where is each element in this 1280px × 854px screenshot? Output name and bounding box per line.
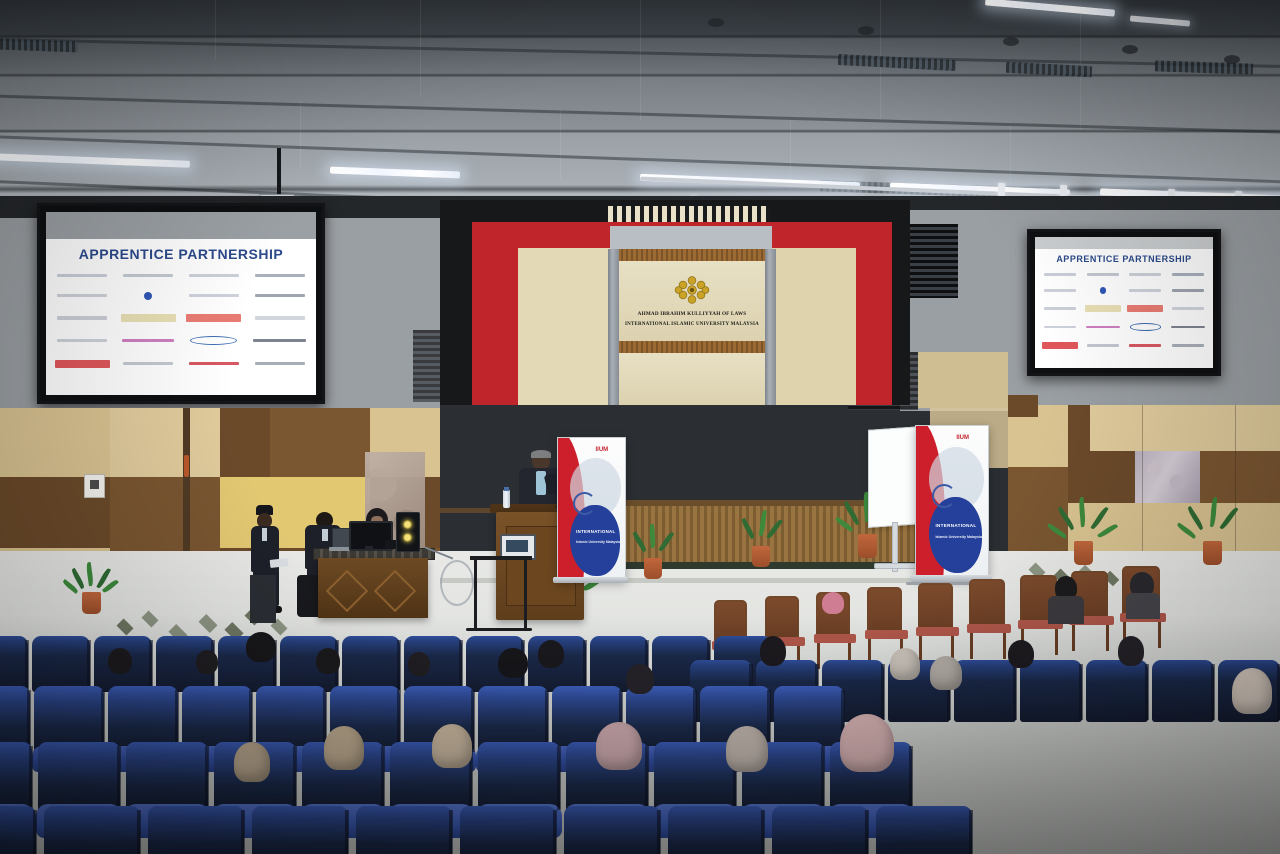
seat-back (772, 806, 868, 854)
chair-seat (865, 630, 908, 639)
seat-divider (345, 810, 349, 854)
seat-divider (241, 810, 245, 854)
chair-back (918, 583, 953, 630)
auditorium-seat[interactable] (668, 806, 764, 854)
logo-mark-box (1042, 342, 1078, 348)
ceiling-speaker (1003, 37, 1019, 46)
backdrop-column-right (765, 249, 776, 405)
slide-logo (248, 268, 311, 283)
chair-leg (970, 633, 973, 659)
logo-mark-text (255, 294, 305, 297)
logo-mark-text (1044, 326, 1076, 329)
flower-pot (1203, 541, 1222, 565)
water-bottle (503, 490, 510, 508)
seat-divider (865, 810, 869, 854)
logo-mark-text (57, 274, 107, 277)
seat-divider (761, 810, 765, 854)
slide-logo (1040, 337, 1081, 354)
monitor-stand-top (470, 556, 532, 560)
shirt-collar (322, 529, 328, 541)
banner-brand-label: IIUM (596, 447, 609, 453)
seat-divider (459, 640, 463, 690)
auditorium-seat[interactable] (44, 806, 140, 854)
logo-mark-text (123, 362, 173, 365)
ceiling-tile-line (300, 100, 301, 170)
auditorium-seat[interactable] (356, 806, 452, 854)
seat-back (44, 806, 140, 854)
seat-divider (397, 640, 401, 690)
logo-mark-oval (1130, 323, 1161, 330)
seat-back (1020, 660, 1082, 722)
banner-brand-label: IIUM (956, 435, 969, 441)
logo-mark-bar (1086, 326, 1120, 328)
seat-divider (657, 810, 661, 854)
desk-panel-detail (374, 570, 416, 612)
slide-logo (51, 330, 114, 351)
seat-back (356, 806, 452, 854)
monitor-stand (365, 546, 373, 550)
auditorium-seat[interactable] (460, 806, 556, 854)
seat-back (148, 806, 244, 854)
audience-member-head (1118, 636, 1144, 666)
audience-member-hijab (234, 742, 270, 782)
slide-logo (1125, 268, 1166, 281)
auditorium-seat[interactable] (0, 636, 28, 692)
slide-title: APPRENTICE PARTNERSHIP (46, 246, 316, 262)
seat-divider (205, 746, 209, 810)
seat-divider (29, 746, 33, 810)
logo-mark-text (1087, 344, 1119, 347)
audience-member-hijab (930, 656, 962, 690)
tech-desk[interactable] (318, 558, 428, 618)
banner-g-logo-icon (932, 484, 956, 508)
banner-international-label: INTERNATIONAL (576, 529, 615, 534)
ceiling-speaker (858, 26, 874, 35)
banner-sub-label: Islamic University Malaysia (935, 535, 982, 539)
backdrop-cream-panel-left (518, 248, 622, 405)
audience-member-head (246, 632, 276, 662)
audience-member-hijab (324, 726, 364, 770)
vip-chair[interactable] (916, 583, 961, 664)
slide-logo-grid (46, 268, 316, 374)
slide-logo (1083, 318, 1124, 336)
chair-leg (1158, 622, 1161, 648)
audience-member-head (626, 664, 654, 694)
banner-sub-label: Islamic University Malaysia (576, 540, 620, 544)
vip-attendee-hijab (822, 592, 844, 614)
left-projection-screen[interactable]: APPRENTICE PARTNERSHIP (37, 203, 325, 404)
logo-mark-text (1129, 289, 1161, 292)
slide-logo (51, 308, 114, 328)
chair-seat (916, 627, 959, 636)
ceiling-speaker (1122, 45, 1138, 54)
slide-logo (1040, 300, 1081, 317)
seat-divider (449, 810, 453, 854)
slide-logo (1040, 268, 1081, 281)
audience-member-hijab (840, 714, 894, 772)
logo-mark-text (57, 294, 107, 297)
logo-mark-text (189, 274, 239, 277)
slide-logo (1168, 318, 1209, 336)
slide-logo (248, 308, 311, 328)
backdrop-wood-band-bottom (618, 341, 766, 353)
seat-back (668, 806, 764, 854)
logo-mark-box (121, 314, 176, 322)
equipment-trolley (440, 560, 474, 606)
potted-plant (1192, 497, 1232, 575)
chair-seat (814, 634, 856, 643)
right-display-monitor[interactable]: APPRENTICE PARTNERSHIP (1027, 229, 1221, 376)
logo-mark-text (57, 316, 107, 319)
audience-member-hijab (596, 722, 642, 770)
flipchart-board (868, 426, 922, 528)
wall-panel (1070, 451, 1135, 503)
flower-pot (1074, 541, 1093, 565)
backdrop-column-left (608, 249, 619, 405)
seat-divider (1013, 664, 1017, 720)
audience-member-hijab (726, 726, 768, 772)
auditorium-seat[interactable] (1152, 660, 1214, 722)
flower-pot (82, 592, 101, 614)
chair-leg (1055, 629, 1058, 655)
potted-plant (636, 524, 670, 584)
backdrop-cream-panel-right (768, 248, 856, 405)
logo-mark-text (1129, 344, 1161, 347)
backdrop-lower-panel (618, 353, 766, 405)
seat-divider (909, 746, 913, 810)
auditorium-seat[interactable] (32, 636, 90, 692)
logo-mark-text (255, 316, 305, 319)
backdrop-wood-band-top (618, 249, 766, 261)
slide-logo (183, 308, 246, 328)
audience-member-head (538, 640, 564, 668)
seat-back (0, 806, 36, 854)
seat-divider (1211, 664, 1215, 720)
desk-panel-detail (326, 570, 368, 612)
wall-notice-sign (84, 474, 105, 498)
logo-mark-text (255, 362, 305, 365)
slide-logo (248, 330, 311, 351)
monitor-stand-leg (474, 560, 477, 630)
logo-mark-text (1172, 289, 1204, 292)
seat-back (478, 742, 560, 812)
slide-logo (248, 285, 311, 305)
auditorium-seat[interactable] (876, 806, 972, 854)
seat-back (32, 636, 90, 692)
ceiling-tile-line (640, 0, 641, 120)
logo-mark-text (189, 294, 239, 297)
banner-g-logo-icon (573, 492, 596, 515)
wall-panel (110, 477, 220, 555)
seat-divider (1079, 664, 1083, 720)
slide-logo (1083, 268, 1124, 281)
auditorium-seat[interactable] (954, 660, 1016, 722)
wall-panel (918, 352, 1008, 408)
ceiling-speaker (1224, 55, 1240, 64)
auditorium-seat[interactable] (1020, 660, 1082, 722)
back-wall-upper-dark-right (900, 196, 1280, 210)
easel-foot (874, 563, 920, 569)
seat-back (1086, 660, 1148, 722)
potted-plant (72, 560, 110, 618)
logo-mark-text (123, 274, 173, 277)
slide-logo (1083, 337, 1124, 354)
backdrop-venue-name: AHMAD IBRAHIM KULLIYYAH OF LAWS (618, 311, 766, 317)
wall-panel (1008, 395, 1038, 417)
slide-logo (1168, 282, 1209, 299)
auditorium-scene: APPRENTICE PARTNERSHIP APPRENTICE PARTNE… (0, 0, 1280, 854)
slide-title-right: APPRENTICE PARTNERSHIP (1035, 254, 1213, 264)
seat-back (38, 742, 120, 812)
chair-leg (919, 636, 922, 662)
slide-logo (1083, 282, 1124, 299)
monitor-stand-leg (524, 560, 527, 630)
chair-leg (1106, 625, 1109, 651)
monitor-stand-foot (466, 628, 532, 631)
audience-member-head (498, 648, 528, 678)
logo-mark-text (1172, 273, 1204, 276)
seat-back (954, 660, 1016, 722)
wall-panel (1200, 451, 1280, 503)
seat-divider (881, 664, 885, 720)
seat-back (252, 806, 348, 854)
chair-back (867, 587, 902, 633)
logo-mark-text (255, 274, 305, 277)
slide-logo (117, 268, 180, 283)
slide-logo (1125, 282, 1166, 299)
projector-mount-rod (277, 148, 281, 196)
slide-logo (1040, 318, 1081, 336)
seat-divider (583, 640, 587, 690)
slide-logo (1168, 300, 1209, 317)
wall-seam (1235, 405, 1236, 551)
seat-divider (1145, 664, 1149, 720)
slide-logo (183, 330, 246, 351)
flower-pot (644, 558, 662, 579)
pc-fan-led (403, 533, 412, 542)
auditorium-seat[interactable] (564, 806, 660, 854)
slide-logo (117, 308, 180, 328)
vip-attendee-body (1126, 593, 1160, 619)
slide-logo (1125, 337, 1166, 354)
seat-divider (821, 746, 825, 810)
slide-logo (117, 285, 180, 305)
seat-back (564, 806, 660, 854)
auditorium-seat[interactable] (1086, 660, 1148, 722)
slide-logo (183, 285, 246, 305)
seat-divider (557, 746, 561, 810)
slide-logo (1125, 300, 1166, 317)
slide-logo (183, 354, 246, 375)
logo-mark-bar (122, 339, 175, 342)
seat-divider (87, 640, 91, 690)
pc-tower[interactable] (396, 512, 420, 552)
slide-logo (117, 354, 180, 375)
chair-leg (1072, 625, 1075, 651)
seat-back (654, 742, 736, 812)
audience-member-head (316, 648, 340, 674)
pc-fan-led (403, 520, 412, 529)
wall-panel (1090, 405, 1280, 451)
seat-divider (149, 640, 153, 690)
logo-mark-text (1044, 307, 1076, 310)
auditorium-seat[interactable] (148, 806, 244, 854)
rollup-banner-right: INTERNATIONAL Islamic University Malaysi… (915, 425, 989, 579)
seat-back (460, 806, 556, 854)
slide-logo (51, 268, 114, 283)
ceiling-tile-line (560, 110, 561, 180)
logo-mark-text (1044, 289, 1076, 292)
seat-divider (969, 810, 973, 854)
shirt-collar (262, 528, 267, 541)
ceiling-tile-line (215, 0, 216, 60)
seat-back (876, 806, 972, 854)
backdrop-dentil-trim (608, 206, 770, 222)
ceiling-tile-line (420, 0, 421, 96)
university-emblem-icon (672, 273, 712, 307)
audience-member-head (408, 652, 430, 676)
logo-mark-text (1087, 273, 1119, 276)
audience-member-hijab (890, 648, 920, 680)
logo-mark-box (186, 314, 241, 322)
slide-logo (51, 354, 114, 375)
seat-divider (33, 810, 37, 854)
vip-chair[interactable] (967, 579, 1013, 661)
slide-logo-grid-right (1035, 268, 1213, 354)
vip-attendee-body (1048, 596, 1084, 624)
audience-member-head (196, 650, 218, 674)
auditorium-seat[interactable] (252, 806, 348, 854)
slide-logo (1168, 337, 1209, 354)
auditorium-seat[interactable] (772, 806, 868, 854)
logo-mark-bar (1171, 326, 1205, 328)
auditorium-seat[interactable] (342, 636, 400, 692)
slide-logo (183, 268, 246, 283)
seat-back (0, 742, 32, 812)
slide-logo (1168, 268, 1209, 281)
backdrop-header-band (610, 226, 772, 249)
auditorium-seat[interactable] (0, 806, 36, 854)
hair (531, 450, 551, 458)
decorative-marble-panel (1135, 451, 1200, 503)
logo-mark-text (1044, 273, 1076, 276)
door-handle (184, 455, 189, 477)
slide-logo (1040, 282, 1081, 299)
wall-louver-vent (413, 330, 443, 402)
potted-plant (1063, 497, 1103, 575)
monitor-screen-content (506, 540, 528, 552)
backdrop-venue-subtitle: INTERNATIONAL ISLAMIC UNIVERSITY MALAYSI… (618, 322, 766, 327)
seat-back (0, 636, 28, 692)
logo-mark-circle (1100, 287, 1106, 293)
logo-mark-text (1129, 273, 1161, 276)
banner-international-label: INTERNATIONAL (935, 523, 976, 528)
slide-logo (51, 285, 114, 305)
logo-mark-text (57, 339, 107, 342)
track-light (998, 183, 1005, 196)
seat-divider (381, 746, 385, 810)
logo-mark-oval (190, 336, 237, 345)
slide-logo (117, 330, 180, 351)
seat-divider (137, 810, 141, 854)
seat-divider (25, 640, 29, 690)
seat-divider (553, 810, 557, 854)
seat-divider (645, 746, 649, 810)
seat-back (342, 636, 400, 692)
logo-mark-circle (144, 292, 152, 300)
audience-member-head (760, 636, 786, 666)
logo-mark-box (1085, 305, 1121, 311)
wall-seam (1142, 405, 1143, 551)
logo-mark-bar (253, 339, 306, 342)
chair-leg (1003, 633, 1006, 659)
seat-back (1152, 660, 1214, 722)
seat-divider (293, 746, 297, 810)
chair (250, 575, 276, 623)
slide-logo (1083, 300, 1124, 317)
banner-base-left (553, 577, 628, 583)
logo-mark-box (55, 360, 110, 368)
chair-back (765, 596, 799, 641)
flower-pot (752, 546, 770, 567)
seat-back (126, 742, 208, 812)
logo-mark-text (1172, 307, 1204, 310)
audience-member-head (1008, 640, 1034, 668)
notice-graphic (90, 480, 99, 489)
chair-seat (967, 624, 1011, 633)
audience-member-hijab (432, 724, 472, 768)
slide-logo (248, 354, 311, 375)
audience-member-head (108, 648, 132, 674)
audience-member-hijab (1232, 668, 1272, 714)
logo-mark-text (1172, 344, 1204, 347)
seat-divider (117, 746, 121, 810)
logo-mark-box (1127, 305, 1163, 311)
potted-plant (744, 510, 778, 572)
rollup-banner-left: INTERNATIONAL Islamic University Malaysi… (557, 437, 626, 581)
ceiling-speaker (708, 18, 724, 27)
chair-back (969, 579, 1005, 627)
slide-logo (1125, 318, 1166, 336)
logo-mark-text (189, 362, 239, 365)
